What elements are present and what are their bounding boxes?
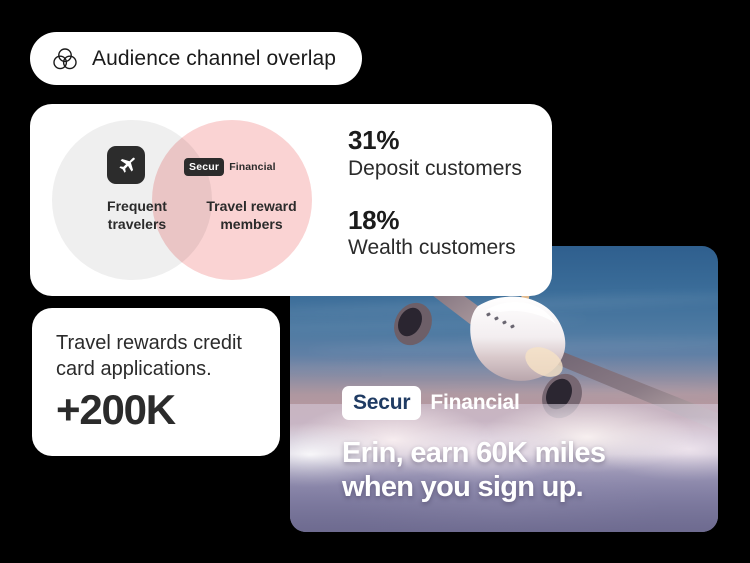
brand-mark-box: Secur: [342, 386, 421, 420]
ad-headline-line1: Erin, earn 60K miles: [342, 437, 605, 469]
venn-right-label-line1: Travel reward: [206, 198, 296, 214]
venn-diagram-icon: [52, 46, 78, 72]
venn-left-label-line1: Frequent: [107, 198, 167, 214]
venn-brand-logo: Secur Financial: [184, 158, 276, 176]
overlap-stats: 31% Deposit customers 18% Wealth custome…: [348, 126, 522, 262]
venn-brand-wordmark: Financial: [229, 161, 275, 173]
stat-value: 18%: [348, 206, 522, 235]
airplane-icon: [107, 146, 145, 184]
venn-left-label-line2: travelers: [108, 216, 166, 232]
venn-brand-mark-box: Secur: [184, 158, 224, 176]
ad-brand-logo: Secur Financial: [342, 386, 698, 420]
canvas: Audience channel overlap: [0, 0, 750, 563]
audience-overlap-card[interactable]: Frequent travelers Secur Financial Trave…: [30, 104, 552, 296]
brand-wordmark: Financial: [430, 391, 519, 415]
audience-channel-overlap-pill[interactable]: Audience channel overlap: [30, 32, 362, 85]
venn-diagram: Frequent travelers Secur Financial Trave…: [52, 120, 342, 280]
stat-label: Wealth customers: [348, 235, 522, 261]
applications-description-line1: Travel rewards credit: [56, 332, 242, 354]
ad-headline: Erin, earn 60K miles when you sign up.: [342, 436, 672, 504]
ad-headline-line2: when you sign up.: [342, 471, 583, 503]
stat-label: Deposit customers: [348, 156, 522, 182]
venn-right-label-line2: members: [220, 216, 282, 232]
ad-overlay: Secur Financial Erin, earn 60K miles whe…: [342, 386, 698, 504]
applications-description: Travel rewards credit card applications.: [56, 330, 256, 382]
applications-description-line2: card applications.: [56, 358, 212, 380]
pill-label: Audience channel overlap: [92, 47, 336, 71]
credit-card-applications-card[interactable]: Travel rewards credit card applications.…: [32, 308, 280, 456]
venn-right-label: Travel reward members: [164, 198, 339, 233]
stat-wealth-customers: 18% Wealth customers: [348, 206, 522, 262]
stat-value: 31%: [348, 126, 522, 155]
stat-deposit-customers: 31% Deposit customers: [348, 126, 522, 182]
applications-count: +200K: [56, 388, 256, 432]
